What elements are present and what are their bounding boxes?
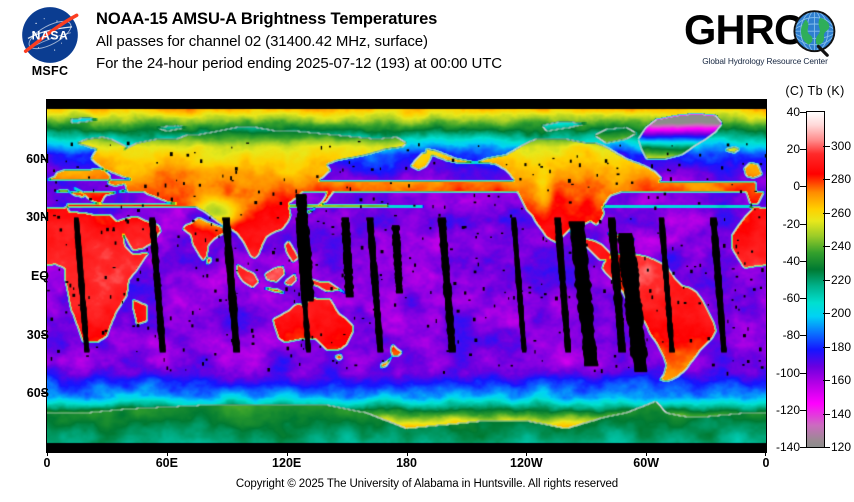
colorbar-celsius-tick	[800, 224, 807, 225]
colorbar-kelvin-tick	[823, 179, 830, 180]
subtitle-period: For the 24-hour period ending 2025-07-12…	[96, 53, 676, 75]
title-block: NOAA-15 AMSU-A Brightness Temperatures A…	[96, 8, 676, 75]
footer: Copyright © 2025 The University of Alaba…	[0, 478, 854, 490]
colorbar-kelvin-tick	[823, 213, 830, 214]
colorbar-kelvin-label: 120	[831, 440, 851, 454]
colorbar-kelvin-label: 200	[831, 306, 851, 320]
brightness-temperature-heatmap[interactable]	[47, 100, 766, 452]
x-axis-label: 120W	[510, 456, 543, 470]
colorbar-kelvin-label: 260	[831, 206, 851, 220]
colorbar-kelvin-tick	[823, 146, 830, 147]
colorbar-header-label: (C) Tb (K)	[776, 84, 854, 98]
y-axis-label: 60N	[26, 152, 49, 166]
x-axis-label: 0	[44, 456, 51, 470]
colorbar-celsius-label: 0	[793, 179, 800, 193]
colorbar-celsius-tick	[800, 298, 807, 299]
page-title: NOAA-15 AMSU-A Brightness Temperatures	[96, 8, 676, 31]
svg-text:GHRC: GHRC	[684, 6, 803, 53]
colorbar-celsius-label: 20	[787, 142, 800, 156]
page-header: NASA MSFC NOAA-15 AMSU-A Brightness Temp…	[0, 0, 854, 88]
colorbar-celsius-tick	[800, 261, 807, 262]
colorbar-celsius-label: -140	[776, 440, 800, 454]
x-axis-label: 60E	[156, 456, 178, 470]
y-axis-label: 30N	[26, 210, 49, 224]
colorbar-celsius-label: -60	[783, 291, 800, 305]
subtitle-channel: All passes for channel 02 (31400.42 MHz,…	[96, 31, 676, 53]
colorbar-celsius-tick	[800, 149, 807, 150]
colorbar-kelvin-label: 140	[831, 407, 851, 421]
colorbar-kelvin-tick	[823, 347, 830, 348]
colorbar-celsius-label: -80	[783, 328, 800, 342]
x-axis-label: 0	[763, 456, 770, 470]
colorbar-celsius-label: -20	[783, 217, 800, 231]
x-axis-label: 120E	[272, 456, 301, 470]
map-area[interactable]	[47, 100, 766, 452]
colorbar-celsius-tick	[800, 335, 807, 336]
colorbar: (C) Tb (K) 40200-20-40-60-80-100-120-140…	[776, 84, 854, 474]
colorbar-kelvin-tick	[823, 280, 830, 281]
colorbar-kelvin-tick	[823, 246, 830, 247]
colorbar-kelvin-tick	[823, 447, 830, 448]
nasa-meatball-icon: NASA	[21, 6, 79, 64]
copyright-notice: Copyright © 2025 The University of Alaba…	[236, 478, 618, 490]
y-axis-label: EQ	[31, 269, 49, 283]
x-axis-label: 60W	[633, 456, 659, 470]
y-axis-label: 30S	[27, 328, 49, 342]
nasa-logo: NASA MSFC	[14, 6, 86, 84]
colorbar-kelvin-label: 300	[831, 139, 851, 153]
x-axis-label: 180	[396, 456, 417, 470]
colorbar-kelvin-tick	[823, 380, 830, 381]
colorbar-celsius-label: -120	[776, 403, 800, 417]
colorbar-celsius-label: -40	[783, 254, 800, 268]
colorbar-celsius-label: 40	[787, 105, 800, 119]
colorbar-kelvin-label: 180	[831, 340, 851, 354]
colorbar-celsius-tick	[800, 186, 807, 187]
ghrc-full-name: Global Hydrology Resource Center	[686, 56, 844, 66]
colorbar-celsius-tick	[800, 112, 807, 113]
colorbar-celsius-tick	[800, 373, 807, 374]
ghrc-wordmark-icon: GHRC	[684, 6, 844, 58]
colorbar-kelvin-tick	[823, 313, 830, 314]
colorbar-kelvin-tick	[823, 414, 830, 415]
colorbar-celsius-label: -100	[776, 366, 800, 380]
colorbar-celsius-tick	[800, 410, 807, 411]
nasa-center-label: MSFC	[14, 64, 86, 78]
colorbar-kelvin-label: 240	[831, 239, 851, 253]
colorbar-kelvin-label: 220	[831, 273, 851, 287]
colorbar-kelvin-label: 160	[831, 373, 851, 387]
colorbar-kelvin-label: 280	[831, 172, 851, 186]
map-frame	[47, 100, 766, 452]
svg-text:NASA: NASA	[32, 29, 69, 43]
y-axis-label: 60S	[27, 386, 49, 400]
colorbar-celsius-tick	[800, 447, 807, 448]
ghrc-logo: GHRC Global Hydrology Resource Center	[684, 6, 844, 78]
